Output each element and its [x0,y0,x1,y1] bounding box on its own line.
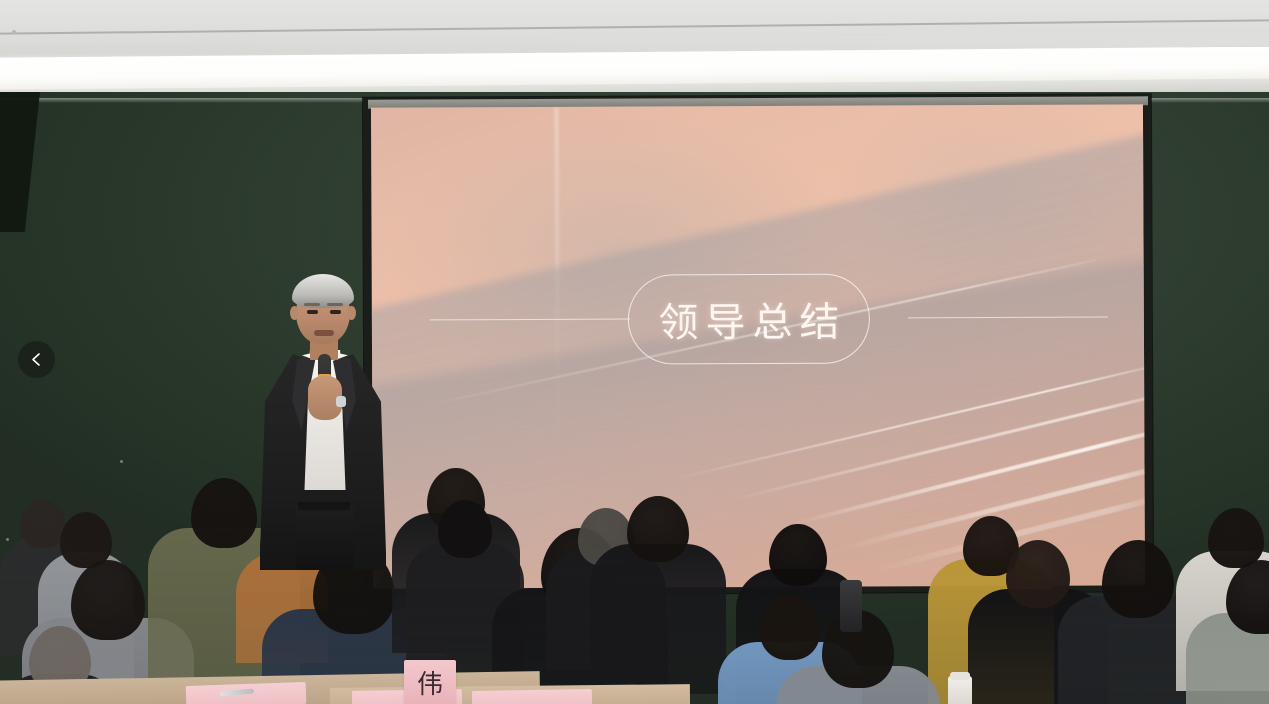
slide-rule-left [430,319,630,321]
attendee-head [1102,540,1174,618]
presenter-ear [347,306,356,320]
presenter-eye [307,310,318,314]
attendee-body [590,544,726,694]
wall-marking [120,460,123,463]
attendee-head [1226,560,1269,634]
thermos [840,580,862,632]
presenter-belt [298,502,350,510]
name-placard: 伟 [404,660,456,704]
attendee-head [627,496,689,562]
attendee-head [769,524,827,586]
ceiling-seam [0,19,1269,34]
presenter-mouth [314,330,334,336]
presenter-eyebrow [327,303,343,306]
slide-title-group: 领导总结 [372,272,1144,365]
name-placard-text: 伟 [417,664,443,701]
slide-title-text: 领导总结 [651,290,846,349]
attendee-head [438,500,492,558]
photo-viewer: 领导总结 伟 [0,0,1269,704]
presenter-ear [290,306,299,320]
water-bottle-cap [950,672,970,680]
attendee-dark-suit-r1 [590,496,726,704]
attendee-grey-sweater-r [1186,560,1269,704]
chevron-left-icon [29,352,44,367]
presenter-wristwatch [336,396,346,407]
pink-paper [472,689,592,704]
slide-title-pill: 领导总结 [628,274,870,365]
water-bottle [948,676,972,704]
attendee-head [1208,508,1264,568]
presenter-eye [330,310,341,314]
slide-rule-right [908,316,1108,318]
presenter [246,270,396,570]
presenter-trousers [296,508,354,570]
presenter-eyebrow [304,303,320,306]
previous-image-button[interactable] [18,341,55,378]
ceiling-screw [12,30,16,34]
presenter-hair [292,274,354,308]
